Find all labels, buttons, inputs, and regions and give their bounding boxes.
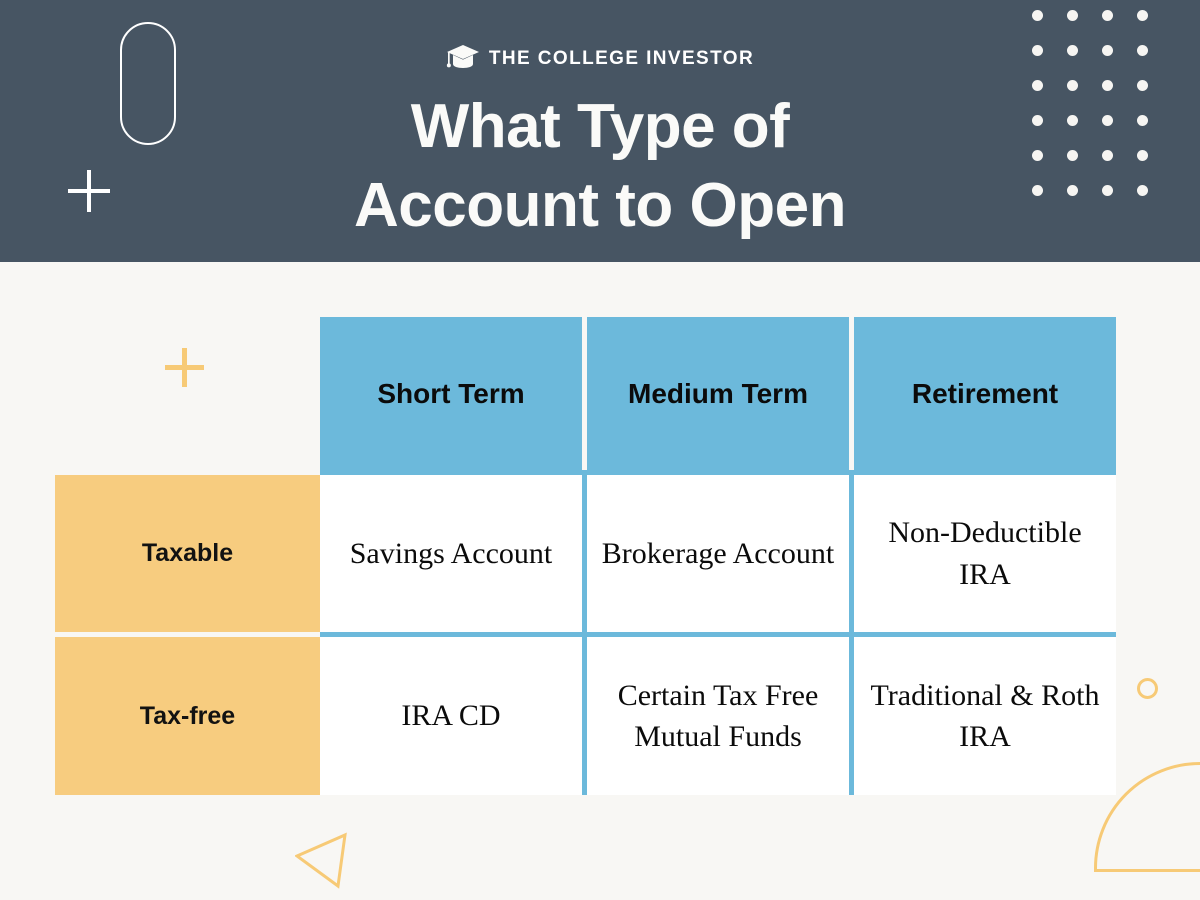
matrix-header-row: Short Term Medium Term Retirement xyxy=(55,317,1116,470)
cell-taxfree-retirement: Traditional & Roth IRA xyxy=(849,637,1116,795)
triangle-outline-icon xyxy=(295,825,359,889)
row-label-column: Taxable Tax-free xyxy=(55,475,320,795)
grid-dot xyxy=(1067,10,1078,21)
column-header-medium-term: Medium Term xyxy=(582,317,849,470)
grid-dot xyxy=(1032,10,1043,21)
page-title-line-2: Account to Open xyxy=(0,167,1200,246)
brand-name: THE COLLEGE INVESTOR xyxy=(489,48,754,70)
grid-dot xyxy=(1137,10,1148,21)
graduation-cap-icon xyxy=(446,43,480,74)
account-type-matrix: Short Term Medium Term Retirement Saving… xyxy=(55,317,1116,785)
grid-dot xyxy=(1102,10,1113,21)
cell-taxable-medium-term: Brokerage Account xyxy=(582,475,849,632)
matrix-corner-cell xyxy=(55,317,320,470)
header-band: THE COLLEGE INVESTOR What Type of Accoun… xyxy=(0,0,1200,262)
column-header-retirement: Retirement xyxy=(849,317,1116,470)
page-title-line-1: What Type of xyxy=(0,88,1200,167)
row-label-tax-free: Tax-free xyxy=(55,637,320,795)
circle-outline-icon xyxy=(1137,678,1158,699)
cell-taxable-short-term: Savings Account xyxy=(320,475,582,632)
row-label-taxable: Taxable xyxy=(55,475,320,632)
column-header-short-term: Short Term xyxy=(320,317,582,470)
cell-taxfree-medium-term: Certain Tax Free Mutual Funds xyxy=(582,637,849,795)
cell-taxable-retirement: Non-Deductible IRA xyxy=(849,475,1116,632)
brand-lockup: THE COLLEGE INVESTOR xyxy=(0,43,1200,74)
cell-taxfree-short-term: IRA CD xyxy=(320,637,582,795)
page-title: What Type of Account to Open xyxy=(0,88,1200,245)
